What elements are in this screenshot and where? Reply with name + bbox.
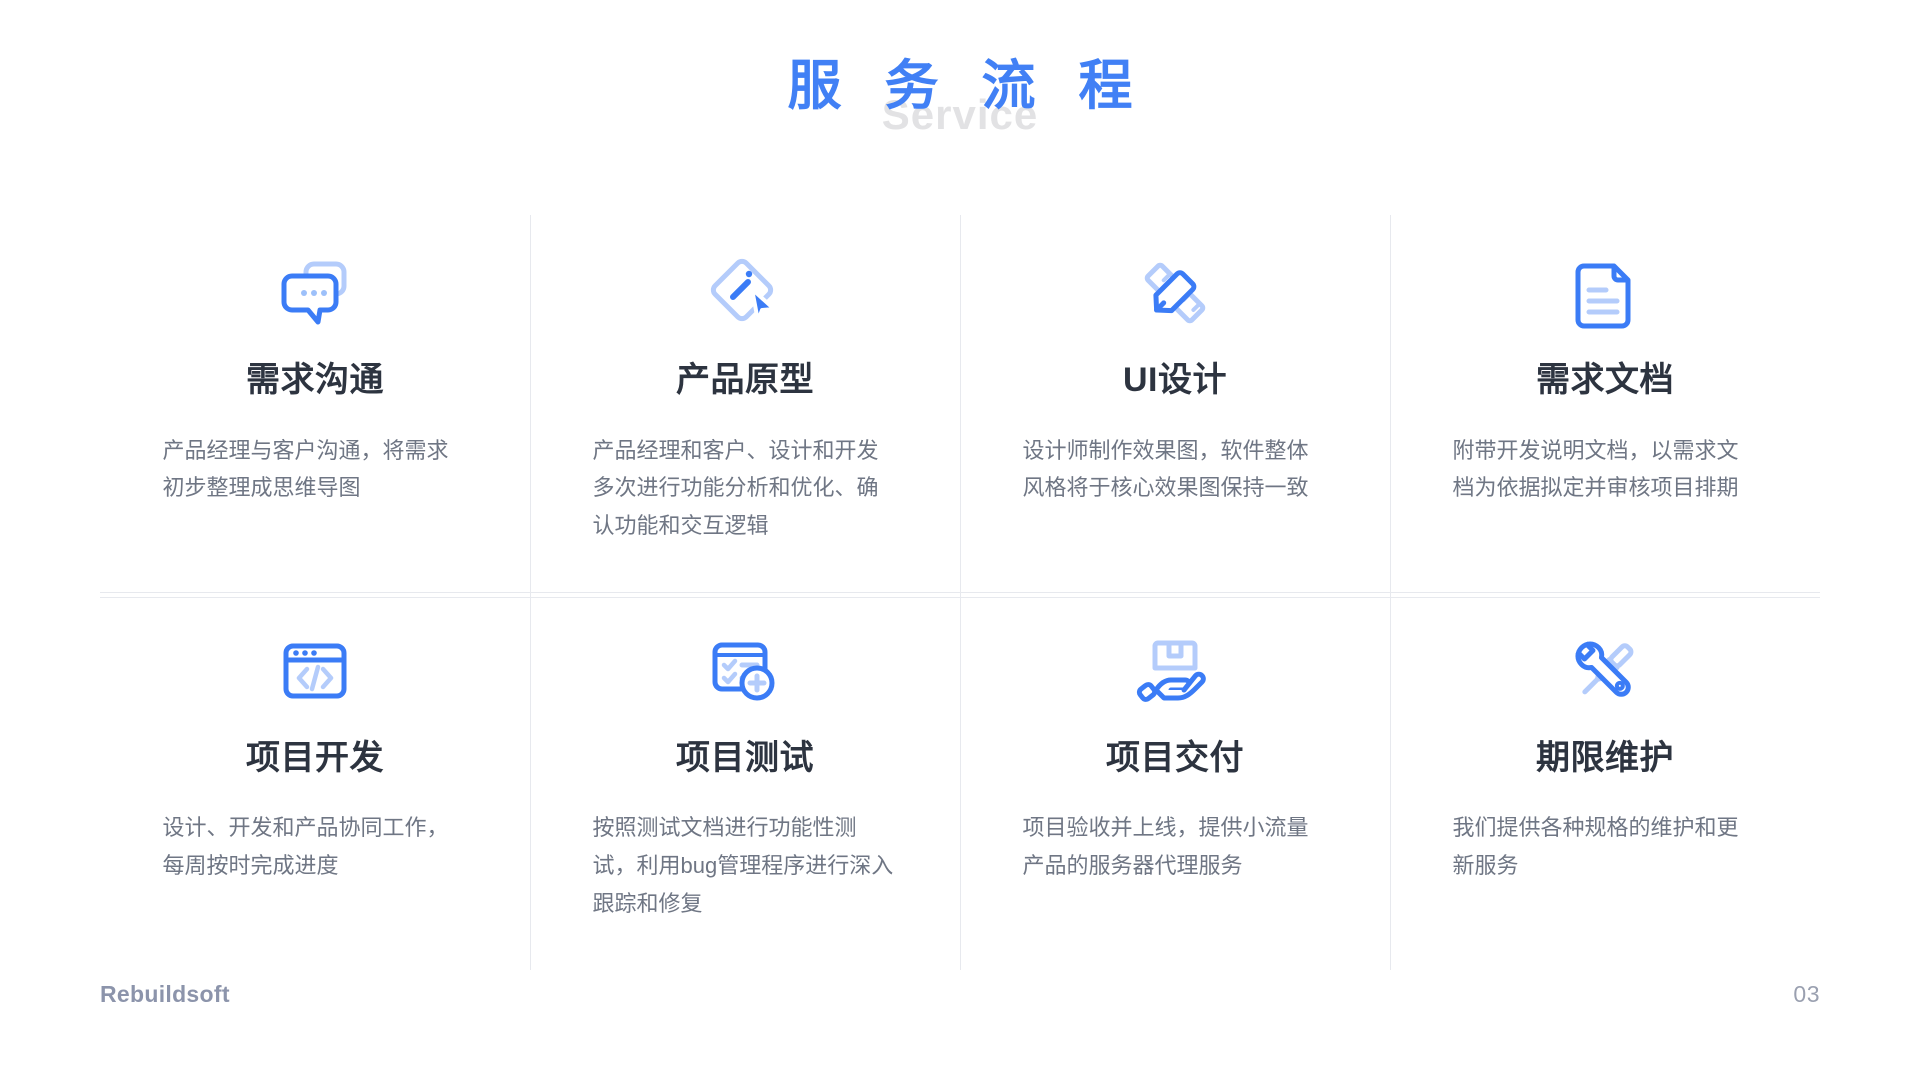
service-card-title: 项目交付 <box>1002 737 1348 780</box>
service-card-3[interactable]: UI设计 设计师制作效果图，软件整体风格将于核心效果图保持一致 <box>960 215 1390 593</box>
checklist-plus-icon <box>572 623 918 719</box>
footer-page-number: 03 <box>1793 981 1820 1008</box>
footer-brand: Rebuildsoft <box>100 981 230 1008</box>
hand-box-delivery-icon <box>1002 623 1348 719</box>
code-window-icon <box>142 623 488 719</box>
service-card-7[interactable]: 项目交付 项目验收并上线，提供小流量产品的服务器代理服务 <box>960 593 1390 971</box>
service-card-4[interactable]: 需求文档 附带开发说明文档，以需求文档为依据拟定并审核项目排期 <box>1390 215 1820 593</box>
service-card-desc: 设计师制作效果图，软件整体风格将于核心效果图保持一致 <box>1023 432 1328 508</box>
service-card-desc: 设计、开发和产品协同工作，每周按时完成进度 <box>163 809 468 885</box>
service-card-title: 项目开发 <box>142 737 488 780</box>
page-title: 服 务 流 程 <box>0 56 1920 116</box>
service-card-title: UI设计 <box>1002 359 1348 402</box>
service-card-desc: 按照测试文档进行功能性测试，利用bug管理程序进行深入跟踪和修复 <box>593 809 898 922</box>
service-card-desc: 产品经理和客户、设计和开发多次进行功能分析和优化、确认功能和交互逻辑 <box>593 432 898 545</box>
chat-bubbles-icon <box>142 245 488 341</box>
document-icon <box>1432 245 1778 341</box>
prototype-diamond-cursor-icon <box>572 245 918 341</box>
service-card-desc: 产品经理与客户沟通，将需求初步整理成思维导图 <box>163 432 468 508</box>
service-card-1[interactable]: 需求沟通 产品经理与客户沟通，将需求初步整理成思维导图 <box>100 215 530 593</box>
service-card-title: 期限维护 <box>1432 737 1778 780</box>
service-card-title: 产品原型 <box>572 359 918 402</box>
service-card-5[interactable]: 项目开发 设计、开发和产品协同工作，每周按时完成进度 <box>100 593 530 971</box>
service-card-title: 需求沟通 <box>142 359 488 402</box>
slide-root: 服 务 流 程 Service 需求沟通 产品经理与客户沟通，将需求初步整理成思… <box>0 0 1920 1080</box>
service-card-6[interactable]: 项目测试 按照测试文档进行功能性测试，利用bug管理程序进行深入跟踪和修复 <box>530 593 960 971</box>
service-grid: 需求沟通 产品经理与客户沟通，将需求初步整理成思维导图 产品原型 产品经理和客户… <box>100 215 1820 970</box>
service-card-title: 需求文档 <box>1432 359 1778 402</box>
service-card-desc: 附带开发说明文档，以需求文档为依据拟定并审核项目排期 <box>1453 432 1758 508</box>
service-card-2[interactable]: 产品原型 产品经理和客户、设计和开发多次进行功能分析和优化、确认功能和交互逻辑 <box>530 215 960 593</box>
ruler-pencil-icon <box>1002 245 1348 341</box>
service-card-desc: 项目验收并上线，提供小流量产品的服务器代理服务 <box>1023 809 1328 885</box>
service-card-8[interactable]: 期限维护 我们提供各种规格的维护和更新服务 <box>1390 593 1820 971</box>
service-card-desc: 我们提供各种规格的维护和更新服务 <box>1453 809 1758 885</box>
wrench-screwdriver-icon <box>1432 623 1778 719</box>
slide-header: 服 务 流 程 Service <box>0 56 1920 141</box>
service-card-title: 项目测试 <box>572 737 918 780</box>
